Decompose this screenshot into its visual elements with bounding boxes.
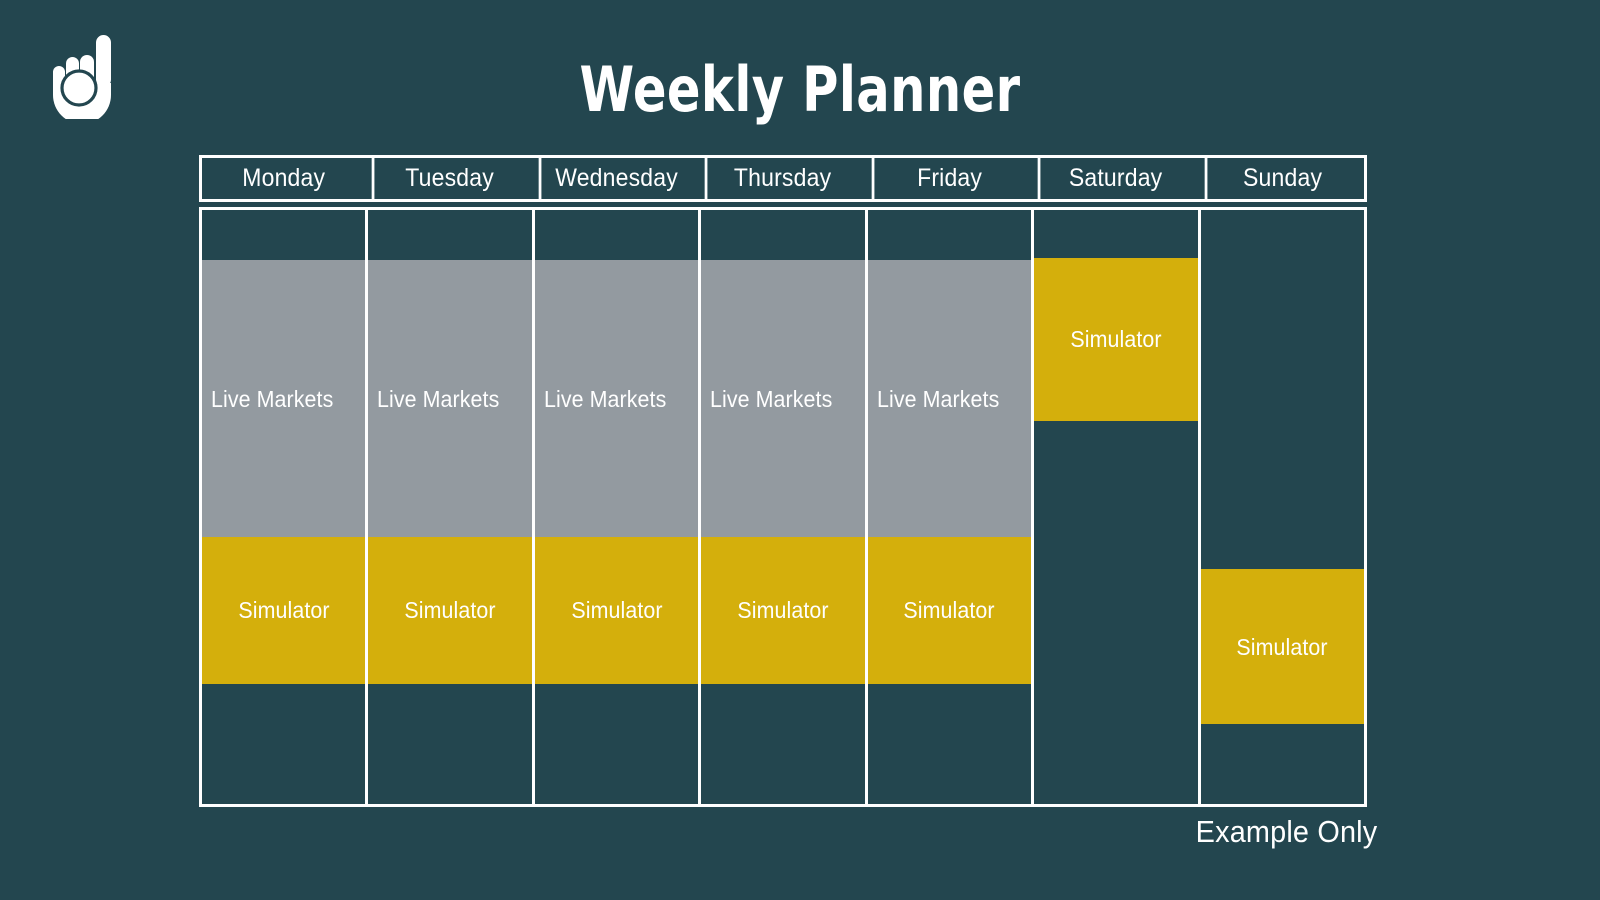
- event-block-live[interactable]: Live Markets: [868, 260, 1031, 536]
- planner-body-grid: Live MarketsSimulatorLive MarketsSimulat…: [199, 207, 1367, 807]
- day-header-saturday: Saturday: [1038, 158, 1191, 199]
- pointing-hand-logo: [48, 33, 120, 119]
- planner-header-row: Monday Tuesday Wednesday Thursday Friday…: [199, 155, 1367, 202]
- example-only-note: Example Only: [1195, 812, 1377, 852]
- event-label: Simulator: [904, 597, 995, 623]
- event-block-live[interactable]: Live Markets: [368, 260, 531, 536]
- day-column-monday[interactable]: Live MarketsSimulator: [199, 207, 365, 807]
- day-header-sunday: Sunday: [1204, 158, 1357, 199]
- event-label: Live Markets: [544, 386, 666, 412]
- event-label: Simulator: [238, 597, 329, 623]
- event-block-simulator[interactable]: Simulator: [1034, 258, 1197, 421]
- day-header-label: Wednesday: [555, 166, 678, 191]
- event-label: Live Markets: [211, 386, 333, 412]
- pointing-hand-icon: [48, 33, 120, 119]
- event-block-live[interactable]: Live Markets: [535, 260, 698, 536]
- event-label: Live Markets: [377, 386, 499, 412]
- day-header-label: Saturday: [1069, 166, 1163, 191]
- day-header-label: Thursday: [734, 166, 831, 191]
- event-label: Live Markets: [877, 386, 999, 412]
- event-block-simulator[interactable]: Simulator: [368, 537, 531, 684]
- day-header-tuesday: Tuesday: [372, 158, 525, 199]
- day-header-friday: Friday: [871, 158, 1024, 199]
- day-header-label: Sunday: [1243, 166, 1322, 191]
- weekly-planner-table: Monday Tuesday Wednesday Thursday Friday…: [199, 155, 1367, 807]
- event-block-simulator[interactable]: Simulator: [701, 537, 864, 684]
- day-column-wednesday[interactable]: Live MarketsSimulator: [532, 207, 698, 807]
- event-label: Simulator: [1237, 634, 1328, 660]
- event-block-simulator[interactable]: Simulator: [1201, 569, 1364, 723]
- day-header-monday: Monday: [209, 158, 359, 199]
- event-label: Live Markets: [710, 386, 832, 412]
- page-title: Weekly Planner: [160, 52, 1440, 128]
- event-block-live[interactable]: Live Markets: [202, 260, 365, 536]
- event-label: Simulator: [1070, 326, 1161, 352]
- event-label: Simulator: [571, 597, 662, 623]
- event-label: Simulator: [405, 597, 496, 623]
- day-header-label: Monday: [242, 166, 325, 191]
- event-block-live[interactable]: Live Markets: [701, 260, 864, 536]
- day-column-tuesday[interactable]: Live MarketsSimulator: [365, 207, 531, 807]
- event-block-simulator[interactable]: Simulator: [868, 537, 1031, 684]
- day-column-friday[interactable]: Live MarketsSimulator: [865, 207, 1031, 807]
- event-block-simulator[interactable]: Simulator: [202, 537, 365, 684]
- event-label: Simulator: [737, 597, 828, 623]
- weekly-planner-page: Weekly Planner Monday Tuesday Wednesday …: [0, 0, 1600, 900]
- event-block-simulator[interactable]: Simulator: [535, 537, 698, 684]
- day-column-saturday[interactable]: Simulator: [1031, 207, 1197, 807]
- day-header-wednesday: Wednesday: [539, 158, 692, 199]
- day-column-sunday[interactable]: Simulator: [1198, 207, 1367, 807]
- day-header-thursday: Thursday: [705, 158, 858, 199]
- day-header-label: Tuesday: [406, 166, 495, 191]
- day-header-label: Friday: [917, 166, 982, 191]
- day-column-thursday[interactable]: Live MarketsSimulator: [698, 207, 864, 807]
